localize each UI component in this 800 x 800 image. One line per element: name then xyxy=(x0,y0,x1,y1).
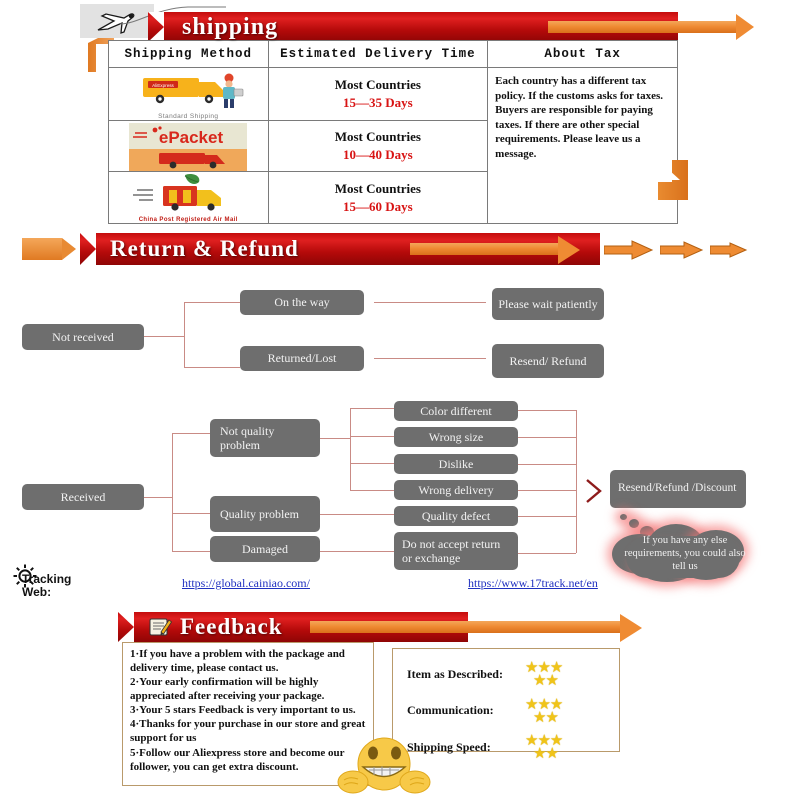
deco-arrow-2 xyxy=(660,241,704,264)
feedback-note-5: 5·Follow our Aliexpress store and become… xyxy=(130,746,368,774)
flow-box-quality-problem[interactable]: Quality problem xyxy=(210,496,320,532)
eta-line1: Most Countries xyxy=(270,128,487,146)
flow-box-received[interactable]: Received xyxy=(22,484,144,510)
feedback-note-3: 3·Your 5 stars Feedback is very importan… xyxy=(130,703,368,717)
cloud-bubble-dot-1 xyxy=(620,514,627,520)
shipping-table: Shipping Method Estimated Delivery Time … xyxy=(108,40,678,224)
flow-box-wrong-size[interactable]: Wrong size xyxy=(394,427,518,447)
method-caption: Standard Shipping xyxy=(109,113,268,120)
feedback-note-4: 4·Thanks for your purchase in our store … xyxy=(130,717,368,745)
tracking-link-cainiao[interactable]: https://global.cainiao.com/ xyxy=(182,576,310,591)
connector-returned-lost-to-result xyxy=(374,358,486,359)
rating-row: Communication: ★★★ ★★ xyxy=(407,698,619,725)
gather-dislike xyxy=(518,464,576,465)
eta-days: 15—35 Days xyxy=(270,94,487,112)
shipping-banner-title: shipping xyxy=(182,14,278,41)
tracking-link-17track[interactable]: https://www.17track.net/en xyxy=(468,576,598,591)
return-refund-banner-title: Return & Refund xyxy=(110,236,299,262)
rating-stars: ★★★ ★★ xyxy=(525,698,597,725)
star-icon: ★ xyxy=(545,710,557,726)
return-banner-arrow-head xyxy=(558,236,580,264)
star-icon: ★ xyxy=(533,710,545,726)
table-header-row: Shipping Method Estimated Delivery Time … xyxy=(109,41,678,68)
rating-label: Communication: xyxy=(407,703,525,718)
connector-received-stem xyxy=(144,497,172,498)
return-banner-orange-bar xyxy=(410,243,560,255)
flow-box-color-different[interactable]: Color different xyxy=(394,401,518,421)
rating-row: Shipping Speed: ★★★ ★★ xyxy=(407,734,619,761)
flow-box-damaged[interactable]: Damaged xyxy=(210,536,320,562)
star-icon: ★ xyxy=(545,746,557,762)
feedback-note-1: 1·If you have a problem with the package… xyxy=(130,647,368,675)
connector-quality-problem-to-defect xyxy=(320,514,394,515)
shipping-banner-arrow-head xyxy=(736,14,754,40)
rating-label: Item as Described: xyxy=(407,667,525,682)
method-cell-china-post: China Post Registered Air Mail xyxy=(109,172,269,224)
eta-cell-3: Most Countries 15—60 Days xyxy=(268,172,488,224)
eta-cell-1: Most Countries 15—35 Days xyxy=(268,68,488,121)
gather-wrong-size xyxy=(518,437,576,438)
connector-nq-wrong-delivery xyxy=(350,490,394,491)
connector-not-received-stem xyxy=(144,336,184,337)
connector-received-spine xyxy=(172,433,173,551)
svg-text:AliExpress: AliExpress xyxy=(152,83,174,88)
eta-line1: Most Countries xyxy=(270,180,487,198)
feedback-banner-notch xyxy=(118,612,134,642)
star-icon: ★ xyxy=(545,673,557,689)
gather-wrong-delivery xyxy=(518,490,576,491)
shipping-banner-notch xyxy=(148,12,164,42)
header-estimated-delivery-time: Estimated Delivery Time xyxy=(268,41,488,68)
svg-text:ePacket: ePacket xyxy=(159,128,224,147)
star-icon: ★ xyxy=(533,673,545,689)
connector-to-damaged xyxy=(172,551,210,552)
connector-to-returned-lost xyxy=(184,367,240,368)
shipping-banner-orange-bar xyxy=(548,21,738,33)
epacket-truck-icon: ePacket xyxy=(115,123,261,171)
table-row: AliExpress Standard Shipping Most Countr… xyxy=(109,68,678,121)
connector-nq-wrong-size xyxy=(350,436,394,437)
cloud-bubble-dot-2 xyxy=(629,519,639,528)
feedback-banner-orange-bar xyxy=(310,621,622,633)
eta-days: 10—40 Days xyxy=(270,146,487,164)
return-banner-notch xyxy=(80,233,96,265)
gather-color-different xyxy=(518,410,576,411)
gather-no-return xyxy=(518,553,576,554)
connector-to-not-quality xyxy=(172,433,210,434)
connector-to-quality-problem xyxy=(172,513,210,514)
notepad-pencil-icon xyxy=(148,616,172,638)
connector-damaged-to-no-return xyxy=(320,551,394,552)
method-cell-standard-shipping: AliExpress Standard Shipping xyxy=(109,68,269,121)
cloud-note-text: If you have any else requirements, you c… xyxy=(622,534,748,573)
eta-days: 15—60 Days xyxy=(270,198,487,216)
connector-not-quality-stem xyxy=(320,438,350,439)
tracking-label-line2: Web: xyxy=(22,586,71,599)
gather-spine xyxy=(576,410,577,553)
deco-arrow-1 xyxy=(604,240,654,265)
rating-stars: ★★★ ★★ xyxy=(525,661,597,688)
method-cell-epacket: ePacket xyxy=(109,121,269,172)
method-caption: China Post Registered Air Mail xyxy=(109,217,268,223)
feedback-banner-title: Feedback xyxy=(180,614,283,640)
gather-quality-defect xyxy=(518,516,576,517)
connector-on-the-way-to-result xyxy=(374,302,486,303)
eta-line1: Most Countries xyxy=(270,76,487,94)
outcome-chevron-icon xyxy=(584,478,604,509)
feedback-banner-arrow-head xyxy=(620,614,642,642)
connector-nq-dislike xyxy=(350,463,394,464)
flow-box-resend-refund-discount[interactable]: Resend/Refund /Discount xyxy=(610,470,746,508)
star-icon: ★ xyxy=(533,746,545,762)
flow-box-do-not-accept-return-or-exchange[interactable]: Do not accept return or exchange xyxy=(394,532,518,570)
flow-box-returned-lost[interactable]: Returned/Lost xyxy=(240,346,364,371)
flow-box-dislike[interactable]: Dislike xyxy=(394,454,518,474)
connector-to-on-the-way xyxy=(184,302,240,303)
eta-cell-2: Most Countries 10—40 Days xyxy=(268,121,488,172)
connector-not-quality-spine xyxy=(350,408,351,490)
grinning-face-hands-icon xyxy=(336,736,432,798)
tracking-web-label: Tracking Web: xyxy=(22,573,71,598)
return-banner-left-tab xyxy=(22,238,62,260)
rating-stars: ★★★ ★★ xyxy=(525,734,597,761)
flow-box-not-quality-problem[interactable]: Not quality problem xyxy=(210,419,320,457)
feedback-note-2: 2·Your early confirmation will be highly… xyxy=(130,675,368,703)
standard-shipping-truck-icon: AliExpress xyxy=(115,70,261,112)
china-post-truck-icon xyxy=(115,174,261,216)
rating-row: Item as Described: ★★★ ★★ xyxy=(407,661,619,688)
header-about-tax: About Tax xyxy=(488,41,678,68)
deco-arrow-3 xyxy=(710,242,748,263)
flow-box-resend-refund[interactable]: Resend/ Refund xyxy=(492,344,604,378)
flow-box-wrong-delivery[interactable]: Wrong delivery xyxy=(394,480,518,500)
ship-corner-bottom-right xyxy=(658,160,688,200)
tracking-label-line1: Tracking xyxy=(22,573,71,586)
connector-nq-color-different xyxy=(350,408,394,409)
tax-cell: Each country has a different tax policy.… xyxy=(488,68,678,224)
flow-box-on-the-way[interactable]: On the way xyxy=(240,290,364,315)
connector-not-received-spine xyxy=(184,302,185,368)
flow-box-please-wait-patiently[interactable]: Please wait patiently xyxy=(492,288,604,320)
header-shipping-method: Shipping Method xyxy=(109,41,269,68)
return-banner-left-tab-head xyxy=(62,238,76,260)
flow-box-not-received[interactable]: Not received xyxy=(22,324,144,350)
flow-box-quality-defect[interactable]: Quality defect xyxy=(394,506,518,526)
